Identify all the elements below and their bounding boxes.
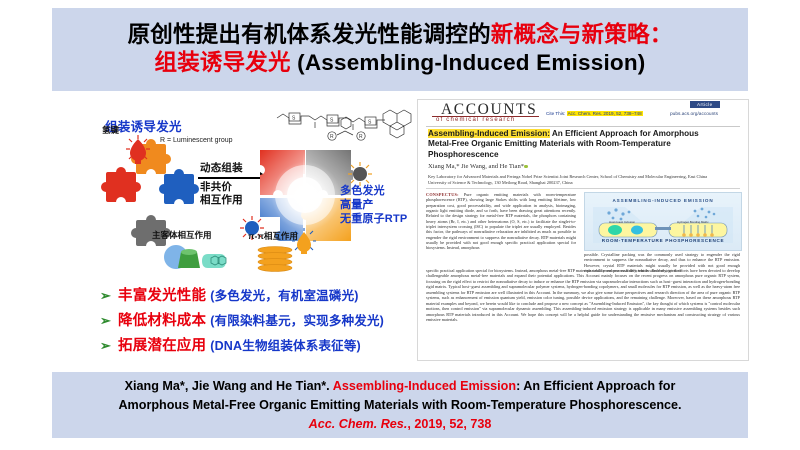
polymer-structure-sketch: S S S R R xyxy=(275,106,418,154)
bullet-arrow-icon: ➢ xyxy=(100,313,118,329)
arrow-bottom-line2: 相互作用 xyxy=(200,194,243,206)
citation-line-1: Xiang Ma*, Jie Wang and He Tian*. Assemb… xyxy=(125,377,676,396)
article-type-badge: Article xyxy=(690,101,720,108)
title-line-1: 原创性提出有机体系发光性能调控的新概念与新策略： xyxy=(128,21,673,48)
cite-this-prefix: Cite This: xyxy=(546,111,565,116)
red-emitter-droplet-icon xyxy=(125,134,151,171)
orcid-icon xyxy=(524,165,528,169)
host-guest-interaction-label: 主客体相互作用 xyxy=(152,229,212,241)
feature-line-3: 无重原子RTP xyxy=(340,213,407,225)
citation-journal-name: Acc. Chem. Res. xyxy=(309,417,408,431)
citation-line-2: Amorphous Metal-Free Organic Emitting Ma… xyxy=(118,396,681,415)
title-line1-red: 新概念与新策略： xyxy=(491,22,673,47)
publisher-url: pubs.acs.org/accounts xyxy=(670,112,718,117)
bullet-row-1: ➢ 丰富发光性能 (多色发光，有机室温磷光) xyxy=(100,284,430,309)
citation-authors: Xiang Ma*, Jie Wang and He Tian*. xyxy=(125,379,333,393)
cite-this-reference: Acc. Chem. Res. 2019, 52, 738–748 xyxy=(567,111,643,116)
svg-text:S: S xyxy=(330,118,334,124)
header-divider xyxy=(426,126,740,127)
svg-text:S: S xyxy=(368,120,372,126)
bullet-row-3: ➢ 拓展潜在应用 (DNA生物组装体系表征等) xyxy=(100,334,430,359)
graphical-abstract-bottom-title: ROOM-TEMPERATURE PHOSPHORESCENCE xyxy=(585,238,741,243)
bullet-3-title: 拓展潜在应用 xyxy=(118,334,206,355)
emission-features-label: 多色发光 高量产 无重原子RTP xyxy=(340,184,407,226)
svg-text:S: S xyxy=(292,116,296,122)
svg-text:R: R xyxy=(330,134,334,140)
citation-footer: Xiang Ma*, Jie Wang and He Tian*. Assemb… xyxy=(52,372,748,438)
bullet-row-2: ➢ 降低材料成本 (有限染料基元，实现多种发光) xyxy=(100,309,430,334)
conspectus-body: Pure organic emitting materials with roo… xyxy=(426,192,576,250)
conspectus-paragraph: CONSPECTUS: Pure organic emitting materi… xyxy=(426,192,576,251)
affiliation-divider xyxy=(426,188,740,189)
graphical-abstract: ASSEMBLING-INDUCED EMISSION xyxy=(584,192,742,251)
ga-left-caption: Host-Guest Inclusion xyxy=(609,220,635,224)
citation-line-3: Acc. Chem. Res., 2019, 52, 738 xyxy=(309,415,492,434)
authors-text: Xiang Ma,* Jie Wang, and He Tian* xyxy=(428,163,524,170)
citation-volume-page: , 2019, 52, 738 xyxy=(407,417,491,431)
title-line2-black: (Assembling-Induced Emission) xyxy=(291,50,646,75)
article-affiliation: Key Laboratory for Advanced Materials an… xyxy=(428,174,720,185)
title-line-2: 组装诱导发光 (Assembling-Induced Emission) xyxy=(155,48,646,78)
journal-article-screenshot: ACCOUNTS of chemical research Cite This:… xyxy=(417,99,749,361)
slide-title-banner: 原创性提出有机体系发光性能调控的新概念与新策略： 组装诱导发光 (Assembl… xyxy=(52,8,748,91)
journal-header: ACCOUNTS of chemical research Cite This:… xyxy=(418,100,748,127)
title-line2-red: 组装诱导发光 xyxy=(155,50,291,75)
article-body-text: specific practical application special f… xyxy=(426,268,740,323)
host-guest-icons xyxy=(152,242,236,277)
cite-this-bar: Cite This: Acc. Chem. Res. 2019, 52, 738… xyxy=(546,111,643,116)
title-line1-black: 原创性提出有机体系发光性能调控的 xyxy=(128,22,491,47)
bullet-arrow-icon: ➢ xyxy=(100,338,118,354)
arrow-bottom-line1: 非共价 xyxy=(200,181,232,193)
bullet-2-detail: (有限染料基元，实现多种发光) xyxy=(210,310,384,329)
arrow-shaft xyxy=(198,177,262,179)
svg-text:R: R xyxy=(359,134,363,140)
bullet-1-title: 丰富发光性能 xyxy=(118,284,206,305)
article-authors: Xiang Ma,* Jie Wang, and He Tian* xyxy=(428,163,528,170)
article-title-highlight: Assembling-Induced Emission: xyxy=(428,129,550,138)
bullet-2-title: 降低材料成本 xyxy=(118,309,206,330)
hydrogen-bond-label: 氢键 xyxy=(102,124,119,136)
ga-right-caption: Hydrogen Bonding Matrix xyxy=(677,220,709,224)
bullet-3-detail: (DNA生物组装体系表征等) xyxy=(210,335,361,354)
citation-title-part1: : An Efficient Approach for xyxy=(516,379,675,393)
feature-line-1: 多色发光 xyxy=(340,185,385,197)
conspectus-label: CONSPECTUS: xyxy=(426,192,459,197)
feature-line-2: 高量产 xyxy=(340,199,374,211)
abstract-column-left: CONSPECTUS: Pure organic emitting materi… xyxy=(426,192,576,251)
bullet-1-detail: (多色发光，有机室温磷光) xyxy=(210,285,358,304)
puzzle-piece-red xyxy=(100,166,148,212)
journal-logo-subtitle: of chemical research xyxy=(436,117,515,123)
assembly-scheme-figure: 组装诱导发光 动态组装 非共价 相互作用 S S S R xyxy=(100,104,418,286)
key-points-list: ➢ 丰富发光性能 (多色发光，有机室温磷光) ➢ 降低材料成本 (有限染料基元，… xyxy=(100,284,430,359)
pi-pi-stack-icon xyxy=(252,244,298,277)
article-title: Assembling-Induced Emission: An Efficien… xyxy=(428,129,718,160)
citation-concept-highlight: Assembling-Induced Emission xyxy=(333,379,516,393)
chem-structure-caption: R = Luminescent group xyxy=(160,137,233,144)
arrow-top-label: 动态组装 xyxy=(200,160,243,175)
pi-pi-interaction-label: π-π相互作用 xyxy=(248,230,298,242)
bullet-arrow-icon: ➢ xyxy=(100,288,118,304)
arrow-bottom-label: 非共价 相互作用 xyxy=(200,181,243,207)
